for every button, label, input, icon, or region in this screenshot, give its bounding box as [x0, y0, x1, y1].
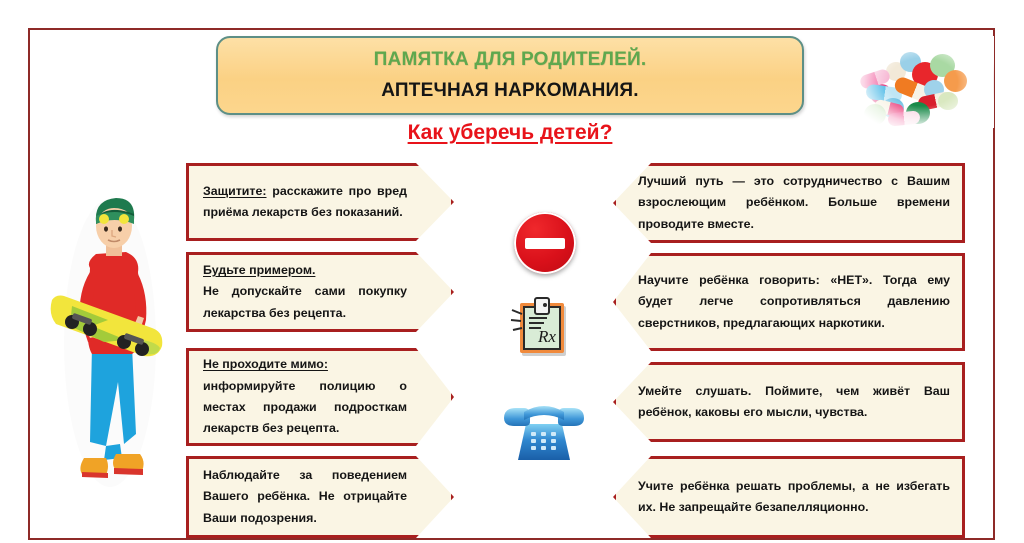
- advice-box-solve-problems-text: Учите ребёнка решать проблемы, а не избе…: [616, 476, 962, 519]
- advice-box-best-way-text: Лучший путь — это сотрудничество с Вашим…: [616, 171, 962, 235]
- no-entry-bar: [525, 238, 565, 249]
- pills-photo-fade: [852, 36, 994, 128]
- advice-box-be-example-lead: Будьте примером.: [203, 263, 315, 277]
- advice-box-dont-pass-by-text: Не проходите мимо:информируйте полицию о…: [189, 354, 417, 439]
- telephone-icon: [500, 398, 588, 468]
- rx-svg: Rx: [508, 290, 584, 366]
- poster-title-line-1: ПАМЯТКА ДЛЯ РОДИТЕЛЕЙ.: [374, 49, 647, 71]
- header-banner: ПАМЯТКА ДЛЯ РОДИТЕЛЕЙ. АПТЕЧНАЯ НАРКОМАН…: [216, 36, 804, 115]
- advice-box-protect-lead: Защитите:: [203, 184, 267, 198]
- no-entry-sign-icon: [514, 212, 576, 274]
- advice-box-learn-to-listen: Умейте слушать. Поймите, чем живёт Ваш р…: [613, 362, 965, 442]
- poster-title-line-2: АПТЕЧНАЯ НАРКОМАНИЯ.: [381, 80, 639, 102]
- svg-text:Rx: Rx: [537, 327, 556, 346]
- advice-box-be-example-body: Не допускайте сами покупку лекарства без…: [203, 284, 407, 319]
- poster-subtitle: Как уберечь детей?: [216, 121, 804, 145]
- teenager-with-skateboard-illustration: [48, 196, 172, 490]
- advice-box-dont-pass-by: Не проходите мимо:информируйте полицию о…: [186, 348, 454, 446]
- advice-box-best-way: Лучший путь — это сотрудничество с Вашим…: [613, 163, 965, 243]
- advice-box-be-example: Будьте примером.Не допускайте сами покуп…: [186, 252, 454, 332]
- advice-box-dont-pass-by-body: информируйте полицию о местах продажи по…: [203, 379, 407, 436]
- advice-box-protect-text: Защитите: расскажите про вред приёма лек…: [189, 181, 417, 224]
- teen-svg: [48, 196, 172, 490]
- advice-box-protect: Защитите: расскажите про вред приёма лек…: [186, 163, 454, 241]
- advice-box-teach-to-say-no: Научите ребёнка говорить: «НЕТ». Тогда е…: [613, 253, 965, 351]
- advice-box-observe-behavior: Наблюдайте за поведением Вашего ребёнка.…: [186, 456, 454, 538]
- advice-box-learn-to-listen-text: Умейте слушать. Поймите, чем живёт Ваш р…: [616, 381, 962, 424]
- advice-box-observe-behavior-text: Наблюдайте за поведением Вашего ребёнка.…: [189, 465, 417, 529]
- advice-box-be-example-text: Будьте примером.Не допускайте сами покуп…: [189, 260, 417, 324]
- advice-box-dont-pass-by-lead: Не проходите мимо:: [203, 357, 328, 371]
- phone-svg: [500, 398, 588, 468]
- advice-box-solve-problems: Учите ребёнка решать проблемы, а не избе…: [613, 456, 965, 538]
- advice-box-teach-to-say-no-text: Научите ребёнка говорить: «НЕТ». Тогда е…: [616, 270, 962, 334]
- rx-prescription-pad-icon: Rx: [508, 290, 584, 366]
- pills-photo: [852, 36, 994, 128]
